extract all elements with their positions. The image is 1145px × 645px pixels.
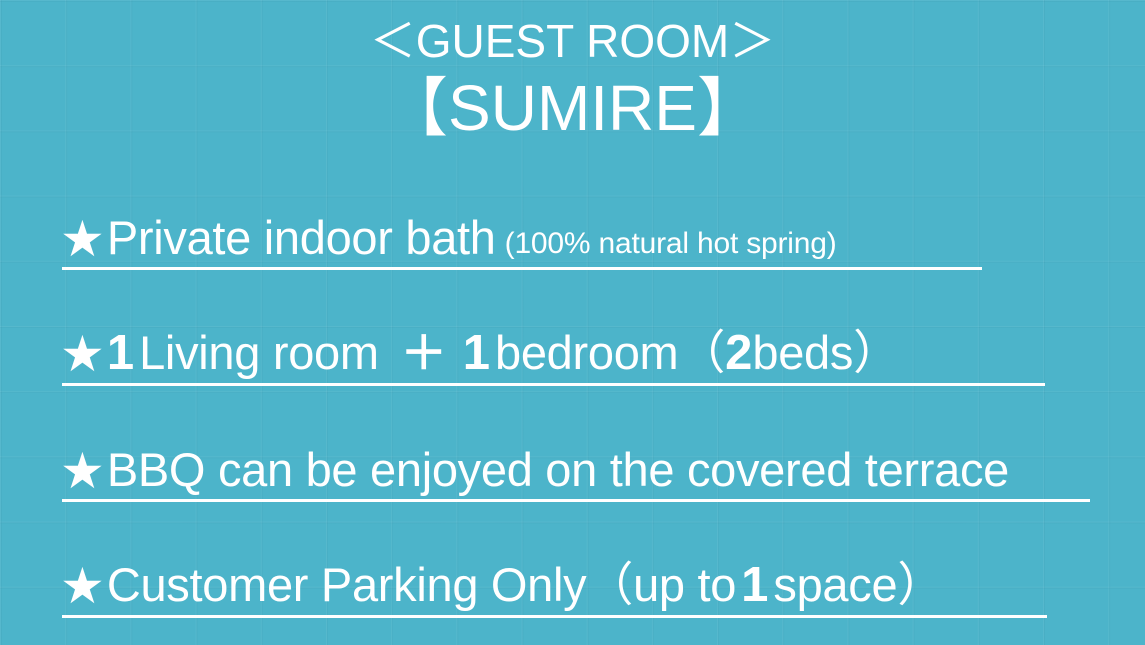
slide-canvas: ＜GUEST ROOM＞ 【SUMIRE】 ★ Private indoor b… (0, 0, 1145, 645)
feature-2-paren-open: （ (678, 329, 725, 376)
feature-2-living-label: Living room (139, 329, 379, 376)
list-item: ★ Customer Parking Only （ up to 1 space … (60, 554, 1090, 616)
feature-4-label: Customer Parking Only (107, 561, 587, 608)
star-icon: ★ (60, 561, 105, 611)
feature-3-content: ★ BBQ can be enjoyed on the covered terr… (60, 444, 1009, 494)
feature-4-paren-open: （ (586, 561, 633, 608)
underline-rule (62, 383, 1045, 386)
star-icon: ★ (60, 446, 105, 496)
page-title: ＜GUEST ROOM＞ 【SUMIRE】 (0, 18, 1145, 140)
underline-rule (62, 267, 982, 270)
title-room-name: 【SUMIRE】 (0, 76, 1145, 140)
star-icon: ★ (60, 329, 105, 379)
feature-4-space-count: 1 (741, 561, 768, 610)
feature-2-bedroom-count: 1 (463, 329, 490, 378)
feature-4-paren-close: ） (897, 561, 944, 608)
underline-rule (62, 499, 1090, 502)
feature-2-bedroom-label: bedroom (495, 329, 678, 376)
feature-4-space-label: space (773, 561, 897, 608)
feature-2-content: ★ 1 Living room ＋ 1 bedroom （ 2 beds ） (60, 327, 900, 378)
feature-2-beds-label: beds (752, 329, 853, 376)
feature-2-paren-close: ） (853, 329, 900, 376)
feature-4-upto-label: up to (633, 561, 736, 608)
feature-1-note: (100% natural hot spring) (505, 229, 837, 259)
feature-4-content: ★ Customer Parking Only （ up to 1 space … (60, 559, 944, 610)
list-item: ★ 1 Living room ＋ 1 bedroom （ 2 beds ） (60, 322, 1090, 384)
feature-2-beds-count: 2 (725, 329, 752, 378)
title-guest-room: ＜GUEST ROOM＞ (0, 18, 1145, 64)
list-item: ★ BBQ can be enjoyed on the covered terr… (60, 438, 1090, 500)
feature-2-living-count: 1 (107, 329, 134, 378)
feature-1-label: Private indoor bath (107, 214, 496, 261)
star-icon: ★ (60, 214, 105, 264)
feature-1-content: ★ Private indoor bath (100% natural hot … (60, 212, 837, 262)
plus-icon: ＋ (401, 330, 447, 376)
list-item: ★ Private indoor bath (100% natural hot … (60, 206, 1090, 268)
feature-list: ★ Private indoor bath (100% natural hot … (60, 206, 1090, 616)
underline-rule (62, 615, 1047, 618)
feature-3-label: BBQ can be enjoyed on the covered terrac… (107, 446, 1009, 493)
